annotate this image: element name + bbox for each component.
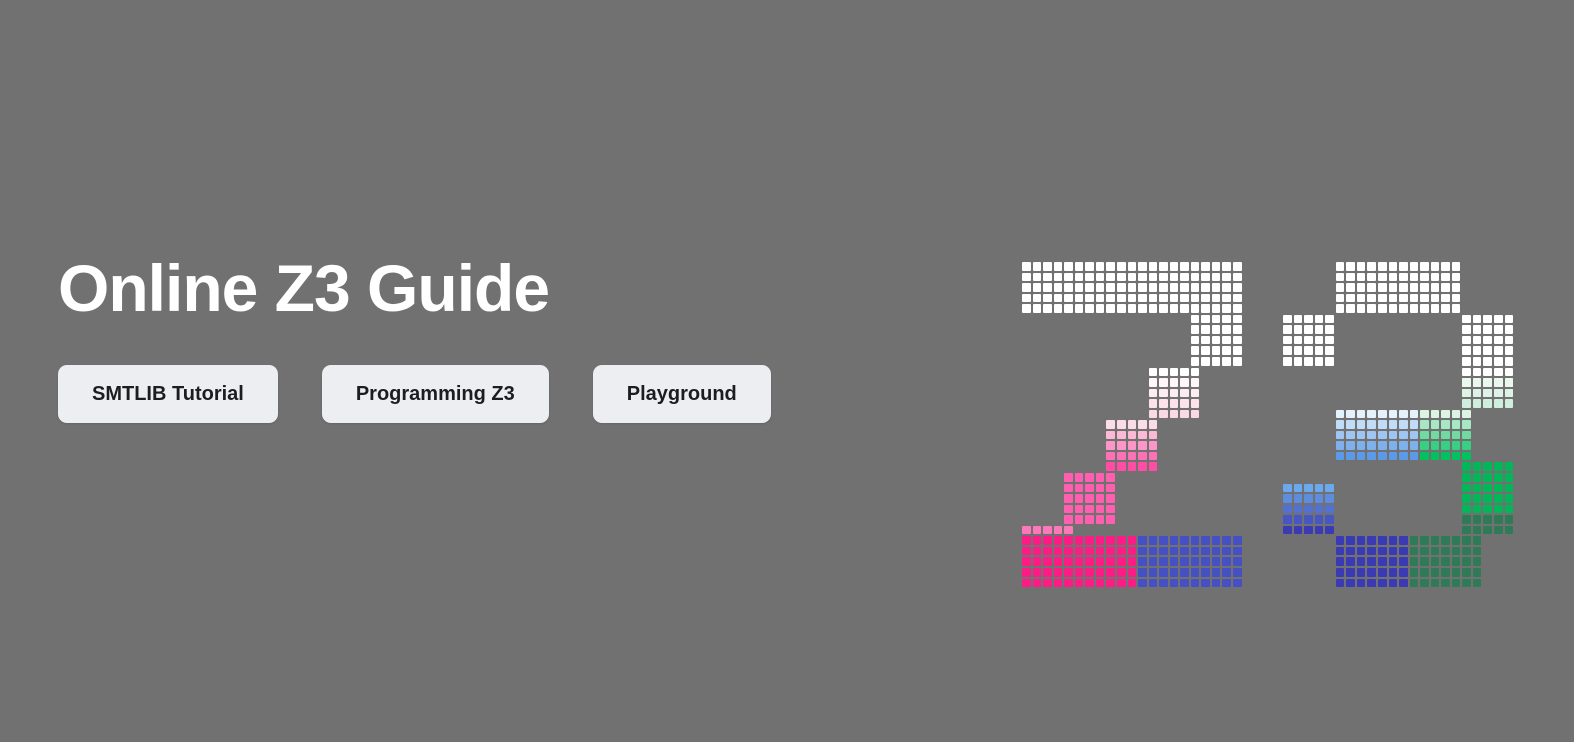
logo-pixel [1346, 273, 1355, 282]
logo-pixel [1064, 494, 1073, 503]
logo-pixel [1222, 325, 1231, 334]
logo-pixel [1399, 294, 1408, 303]
logo-pixel [1357, 283, 1366, 292]
logo-pixel [1325, 494, 1334, 503]
logo-pixel [1325, 336, 1334, 345]
logo-pixel [1336, 283, 1345, 292]
logo-pixel [1159, 579, 1168, 588]
logo-pixel [1346, 557, 1355, 566]
logo-pixel [1283, 494, 1292, 503]
logo-pixel [1336, 420, 1345, 429]
logo-pixel [1367, 431, 1376, 440]
logo-pixel [1233, 325, 1242, 334]
logo-pixel [1233, 304, 1242, 313]
logo-pixel [1336, 410, 1345, 419]
logo-pixel [1483, 526, 1492, 535]
logo-pixel [1473, 325, 1482, 334]
logo-pixel [1096, 579, 1105, 588]
logo-pixel [1389, 536, 1398, 545]
logo-pixel [1389, 452, 1398, 461]
logo-pixel [1054, 536, 1063, 545]
logo-pixel [1473, 536, 1482, 545]
logo-pixel [1399, 568, 1408, 577]
logo-pixel [1410, 304, 1419, 313]
logo-pixel [1494, 505, 1503, 514]
logo-pixel [1494, 494, 1503, 503]
logo-pixel [1473, 315, 1482, 324]
logo-pixel [1420, 262, 1429, 271]
logo-pixel [1149, 304, 1158, 313]
logo-pixel [1117, 452, 1126, 461]
logo-pixel [1022, 262, 1031, 271]
logo-pixel [1483, 325, 1492, 334]
logo-pixel [1054, 262, 1063, 271]
logo-pixel [1346, 431, 1355, 440]
logo-pixel [1304, 484, 1313, 493]
logo-pixel [1033, 294, 1042, 303]
logo-pixel [1180, 294, 1189, 303]
logo-pixel [1201, 273, 1210, 282]
logo-pixel [1346, 283, 1355, 292]
logo-pixel [1389, 294, 1398, 303]
logo-pixel [1117, 431, 1126, 440]
logo-pixel [1128, 579, 1137, 588]
playground-button[interactable]: Playground [593, 365, 771, 423]
logo-pixel [1064, 547, 1073, 556]
logo-pixel [1505, 505, 1514, 514]
logo-pixel [1441, 410, 1450, 419]
logo-pixel [1212, 262, 1221, 271]
logo-pixel [1212, 346, 1221, 355]
logo-pixel [1149, 378, 1158, 387]
logo-pixel [1399, 441, 1408, 450]
logo-pixel [1191, 273, 1200, 282]
logo-pixel [1441, 420, 1450, 429]
logo-pixel [1452, 547, 1461, 556]
logo-pixel [1191, 389, 1200, 398]
logo-pixel [1441, 294, 1450, 303]
logo-pixel [1222, 273, 1231, 282]
logo-pixel [1106, 568, 1115, 577]
logo-pixel [1064, 526, 1073, 535]
logo-pixel [1336, 452, 1345, 461]
logo-pixel [1431, 431, 1440, 440]
logo-pixel [1054, 526, 1063, 535]
logo-pixel [1149, 410, 1158, 419]
logo-pixel [1117, 304, 1126, 313]
logo-pixel [1170, 294, 1179, 303]
logo-pixel [1075, 494, 1084, 503]
logo-pixel [1494, 378, 1503, 387]
logo-pixel [1441, 568, 1450, 577]
logo-pixel [1075, 484, 1084, 493]
logo-pixel [1043, 547, 1052, 556]
logo-pixel [1149, 389, 1158, 398]
logo-pixel [1075, 568, 1084, 577]
logo-pixel [1452, 568, 1461, 577]
logo-pixel [1191, 579, 1200, 588]
logo-pixel [1473, 336, 1482, 345]
logo-pixel [1431, 579, 1440, 588]
logo-pixel [1346, 568, 1355, 577]
logo-pixel [1462, 368, 1471, 377]
logo-pixel [1304, 346, 1313, 355]
logo-pixel [1283, 325, 1292, 334]
logo-pixel [1294, 515, 1303, 524]
logo-pixel [1505, 484, 1514, 493]
logo-pixel [1159, 273, 1168, 282]
logo-pixel [1233, 346, 1242, 355]
logo-pixel [1159, 557, 1168, 566]
logo-pixel [1304, 494, 1313, 503]
logo-pixel [1505, 357, 1514, 366]
logo-pixel [1336, 547, 1345, 556]
logo-pixel [1233, 336, 1242, 345]
logo-pixel [1170, 568, 1179, 577]
logo-pixel [1106, 579, 1115, 588]
logo-pixel [1389, 431, 1398, 440]
logo-pixel [1201, 346, 1210, 355]
logo-pixel [1138, 462, 1147, 471]
logo-pixel [1212, 357, 1221, 366]
logo-pixel [1431, 452, 1440, 461]
logo-pixel [1096, 494, 1105, 503]
logo-pixel [1462, 378, 1471, 387]
logo-pixel [1085, 505, 1094, 514]
logo-pixel [1159, 304, 1168, 313]
logo-pixel [1222, 283, 1231, 292]
logo-pixel [1138, 283, 1147, 292]
logo-pixel [1128, 536, 1137, 545]
programming-z3-button[interactable]: Programming Z3 [322, 365, 549, 423]
logo-pixel [1346, 262, 1355, 271]
logo-pixel [1212, 325, 1221, 334]
logo-pixel [1452, 557, 1461, 566]
logo-pixel [1064, 283, 1073, 292]
logo-pixel [1294, 346, 1303, 355]
logo-pixel [1473, 526, 1482, 535]
logo-pixel [1212, 557, 1221, 566]
logo-pixel [1064, 579, 1073, 588]
logo-pixel [1346, 452, 1355, 461]
logo-pixel [1128, 420, 1137, 429]
logo-pixel [1452, 536, 1461, 545]
logo-pixel [1357, 441, 1366, 450]
logo-pixel [1191, 346, 1200, 355]
logo-pixel [1420, 420, 1429, 429]
logo-pixel [1505, 378, 1514, 387]
logo-pixel [1180, 389, 1189, 398]
logo-pixel [1420, 431, 1429, 440]
logo-pixel [1483, 368, 1492, 377]
logo-pixel [1420, 294, 1429, 303]
page-title: Online Z3 Guide [58, 255, 978, 321]
logo-pixel [1420, 273, 1429, 282]
logo-pixel [1431, 273, 1440, 282]
logo-pixel [1357, 304, 1366, 313]
logo-pixel [1222, 336, 1231, 345]
logo-pixel [1399, 547, 1408, 556]
logo-pixel [1399, 557, 1408, 566]
logo-pixel [1452, 283, 1461, 292]
logo-pixel [1473, 547, 1482, 556]
logo-pixel [1170, 304, 1179, 313]
logo-pixel [1325, 526, 1334, 535]
logo-pixel [1149, 283, 1158, 292]
logo-pixel [1085, 494, 1094, 503]
logo-pixel [1452, 273, 1461, 282]
logo-pixel [1410, 568, 1419, 577]
logo-pixel [1283, 336, 1292, 345]
logo-pixel [1462, 505, 1471, 514]
logo-pixel [1389, 262, 1398, 271]
logo-pixel [1473, 357, 1482, 366]
logo-pixel [1483, 399, 1492, 408]
logo-pixel [1180, 368, 1189, 377]
logo-pixel [1399, 304, 1408, 313]
logo-pixel [1064, 294, 1073, 303]
logo-pixel [1233, 315, 1242, 324]
logo-pixel [1410, 431, 1419, 440]
logo-pixel [1378, 410, 1387, 419]
logo-pixel [1191, 557, 1200, 566]
logo-pixel [1096, 547, 1105, 556]
logo-pixel [1149, 568, 1158, 577]
logo-pixel [1191, 336, 1200, 345]
logo-pixel [1096, 484, 1105, 493]
logo-pixel [1399, 273, 1408, 282]
logo-pixel [1399, 420, 1408, 429]
logo-pixel [1399, 283, 1408, 292]
logo-pixel [1085, 294, 1094, 303]
logo-pixel [1096, 304, 1105, 313]
logo-pixel [1462, 536, 1471, 545]
logo-pixel [1304, 325, 1313, 334]
logo-pixel [1473, 389, 1482, 398]
logo-pixel [1357, 579, 1366, 588]
logo-pixel [1399, 452, 1408, 461]
smtlib-tutorial-button[interactable]: SMTLIB Tutorial [58, 365, 278, 423]
logo-pixel [1222, 294, 1231, 303]
logo-pixel [1201, 547, 1210, 556]
logo-pixel [1483, 494, 1492, 503]
logo-pixel [1473, 399, 1482, 408]
logo-pixel [1106, 515, 1115, 524]
logo-pixel [1180, 262, 1189, 271]
logo-pixel [1483, 473, 1492, 482]
cta-button-row: SMTLIB Tutorial Programming Z3 Playgroun… [58, 365, 978, 423]
logo-pixel [1064, 473, 1073, 482]
logo-pixel [1201, 336, 1210, 345]
logo-pixel [1494, 526, 1503, 535]
logo-pixel [1462, 484, 1471, 493]
logo-pixel [1483, 505, 1492, 514]
logo-pixel [1085, 579, 1094, 588]
logo-pixel [1064, 273, 1073, 282]
logo-pixel [1096, 283, 1105, 292]
logo-pixel [1336, 557, 1345, 566]
logo-pixel [1191, 399, 1200, 408]
logo-pixel [1085, 273, 1094, 282]
logo-pixel [1085, 262, 1094, 271]
logo-pixel [1149, 399, 1158, 408]
logo-pixel [1159, 378, 1168, 387]
logo-pixel [1462, 420, 1471, 429]
logo-pixel [1483, 462, 1492, 471]
logo-pixel [1138, 441, 1147, 450]
logo-pixel [1022, 579, 1031, 588]
logo-pixel [1410, 579, 1419, 588]
logo-pixel [1043, 568, 1052, 577]
logo-pixel [1022, 273, 1031, 282]
logo-pixel [1315, 505, 1324, 514]
logo-pixel [1283, 515, 1292, 524]
logo-pixel [1033, 273, 1042, 282]
logo-pixel [1431, 441, 1440, 450]
logo-pixel [1462, 526, 1471, 535]
logo-pixel [1085, 568, 1094, 577]
logo-pixel [1180, 378, 1189, 387]
logo-pixel [1212, 547, 1221, 556]
logo-pixel [1159, 410, 1168, 419]
logo-pixel [1378, 283, 1387, 292]
logo-pixel [1180, 547, 1189, 556]
logo-pixel [1106, 420, 1115, 429]
logo-pixel [1128, 273, 1137, 282]
logo-pixel [1054, 579, 1063, 588]
logo-pixel [1441, 304, 1450, 313]
logo-pixel [1033, 262, 1042, 271]
logo-pixel [1346, 579, 1355, 588]
logo-pixel [1149, 536, 1158, 545]
logo-pixel [1138, 294, 1147, 303]
logo-pixel [1315, 346, 1324, 355]
logo-pixel [1222, 346, 1231, 355]
logo-pixel [1494, 336, 1503, 345]
logo-pixel [1106, 547, 1115, 556]
logo-pixel [1212, 579, 1221, 588]
logo-pixel [1462, 557, 1471, 566]
logo-pixel [1399, 536, 1408, 545]
logo-pixel [1357, 431, 1366, 440]
logo-pixel [1357, 273, 1366, 282]
logo-pixel [1294, 484, 1303, 493]
logo-pixel [1420, 283, 1429, 292]
logo-pixel [1431, 536, 1440, 545]
logo-pixel [1410, 262, 1419, 271]
logo-pixel [1378, 294, 1387, 303]
logo-pixel [1222, 304, 1231, 313]
logo-pixel [1357, 547, 1366, 556]
logo-pixel [1170, 273, 1179, 282]
logo-pixel [1346, 304, 1355, 313]
logo-pixel [1149, 294, 1158, 303]
logo-pixel [1357, 536, 1366, 545]
logo-pixel [1283, 357, 1292, 366]
logo-pixel [1410, 536, 1419, 545]
logo-pixel [1367, 273, 1376, 282]
logo-pixel [1346, 294, 1355, 303]
logo-pixel [1378, 420, 1387, 429]
logo-pixel [1170, 410, 1179, 419]
logo-pixel [1304, 526, 1313, 535]
logo-pixel [1054, 273, 1063, 282]
logo-pixel [1138, 557, 1147, 566]
logo-pixel [1043, 294, 1052, 303]
logo-pixel [1138, 304, 1147, 313]
logo-pixel [1075, 283, 1084, 292]
logo-pixel [1149, 420, 1158, 429]
logo-pixel [1191, 536, 1200, 545]
logo-pixel [1325, 346, 1334, 355]
logo-pixel [1106, 452, 1115, 461]
logo-pixel [1117, 547, 1126, 556]
logo-pixel [1325, 315, 1334, 324]
logo-pixel [1106, 462, 1115, 471]
logo-pixel [1106, 304, 1115, 313]
logo-pixel [1222, 357, 1231, 366]
logo-pixel [1441, 536, 1450, 545]
logo-pixel [1304, 357, 1313, 366]
logo-pixel [1462, 579, 1471, 588]
logo-pixel [1033, 557, 1042, 566]
logo-pixel [1128, 568, 1137, 577]
logo-pixel [1378, 304, 1387, 313]
logo-pixel [1043, 273, 1052, 282]
logo-pixel [1138, 536, 1147, 545]
logo-pixel [1033, 526, 1042, 535]
logo-pixel [1483, 389, 1492, 398]
logo-pixel [1473, 568, 1482, 577]
logo-pixel [1170, 536, 1179, 545]
logo-pixel [1462, 346, 1471, 355]
logo-pixel [1138, 431, 1147, 440]
logo-pixel [1085, 557, 1094, 566]
logo-pixel [1043, 557, 1052, 566]
logo-pixel [1336, 568, 1345, 577]
logo-glyph-z [1022, 262, 1244, 589]
logo-pixel [1233, 357, 1242, 366]
logo-pixel [1191, 325, 1200, 334]
logo-pixel [1410, 441, 1419, 450]
logo-pixel [1378, 579, 1387, 588]
logo-pixel [1212, 336, 1221, 345]
logo-pixel [1022, 557, 1031, 566]
logo-pixel [1138, 579, 1147, 588]
logo-pixel [1212, 273, 1221, 282]
logo-pixel [1191, 294, 1200, 303]
logo-pixel [1096, 536, 1105, 545]
logo-pixel [1054, 304, 1063, 313]
logo-pixel [1022, 568, 1031, 577]
logo-pixel [1494, 346, 1503, 355]
logo-pixel [1180, 557, 1189, 566]
logo-pixel [1494, 368, 1503, 377]
logo-pixel [1315, 494, 1324, 503]
logo-pixel [1180, 304, 1189, 313]
logo-pixel [1106, 557, 1115, 566]
logo-pixel [1294, 526, 1303, 535]
logo-pixel [1304, 505, 1313, 514]
logo-pixel [1462, 410, 1471, 419]
logo-pixel [1452, 441, 1461, 450]
logo-pixel [1233, 547, 1242, 556]
logo-pixel [1064, 515, 1073, 524]
logo-pixel [1191, 357, 1200, 366]
logo-pixel [1117, 294, 1126, 303]
logo-pixel [1315, 515, 1324, 524]
logo-pixel [1222, 547, 1231, 556]
